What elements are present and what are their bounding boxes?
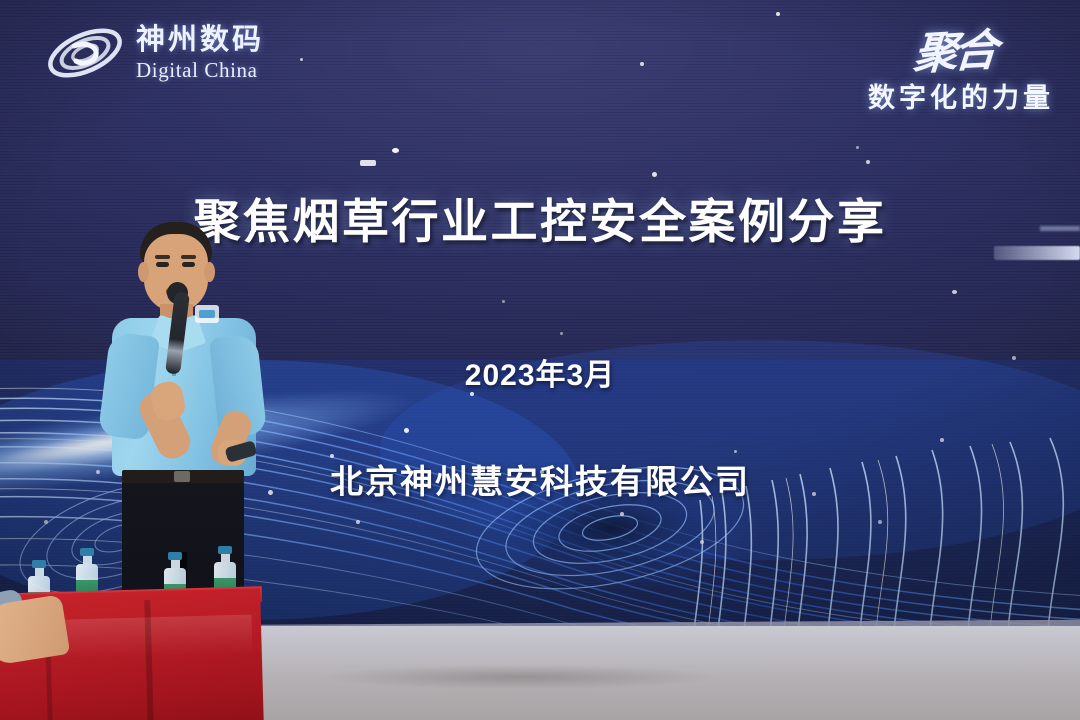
speaker-belt-buckle [174,471,190,482]
brand-name-chinese: 神州数码 [136,26,264,55]
speaker-eyebrow-left [155,255,170,259]
bottle-neck [35,568,44,576]
bottle-cap [80,548,94,556]
polo-chest-logo [195,305,219,323]
digital-china-logo: 神州数码 Digital China [44,22,264,84]
event-tagline: 数字化的力量 [868,76,1054,115]
attendee-arm [0,594,70,665]
conference-stage-photo: 神州数码 Digital China 聚合 数字化的力量 聚焦烟草行业工控安全案… [0,0,1080,720]
bottle-cap [218,546,232,554]
digital-china-wordmark: 神州数码 Digital China [136,26,264,81]
speaker-eye-right [182,262,195,267]
bottle-cap [168,552,182,560]
brand-name-english: Digital China [136,60,264,81]
stage-floor-shadow [240,660,800,694]
spiral-galaxy-icon [44,22,126,84]
speaker-ear-left [138,262,149,282]
speaker-eyebrow-right [181,255,196,259]
bottle-neck [83,556,92,564]
speaker-eye-left [156,262,169,267]
event-calligraphy: 聚合 [912,14,997,82]
bottle-neck [171,560,180,568]
event-theme-logo: 聚合 数字化的力量 [868,16,1054,115]
speaker-figure [96,222,286,642]
bottle-cap [32,560,46,568]
bottle-neck [221,554,230,562]
speaker-ear-right [204,262,215,282]
